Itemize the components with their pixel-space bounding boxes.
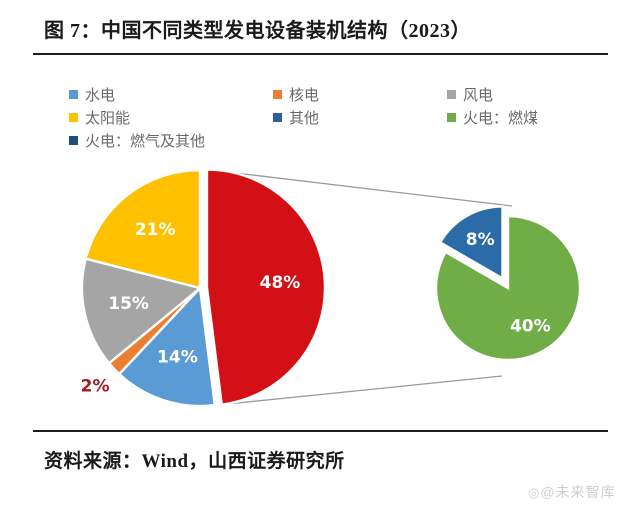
watermark-logo-icon: ◎ — [528, 485, 540, 500]
chart-plot-area: 水电 核电 风电 太阳能 其他 — [33, 56, 608, 428]
pie-slice-label: 14% — [157, 348, 198, 368]
watermark: ◎@未来智库 — [528, 482, 616, 502]
pie-slice-label: 40% — [510, 317, 551, 337]
figure-title: 图 7：中国不同类型发电设备装机结构（2023） — [44, 14, 604, 43]
watermark-text: @未来智库 — [540, 484, 615, 500]
pie-slice-label: 8% — [466, 230, 495, 250]
pie-slice-label: 2% — [81, 377, 110, 397]
secondary-pie — [436, 206, 580, 360]
pie-slice-label: 48% — [260, 273, 301, 293]
title-divider-rule — [33, 53, 608, 55]
figure-source: 资料来源：Wind，山西证券研究所 — [44, 446, 345, 473]
pie-slice-label: 21% — [135, 220, 176, 240]
figure-container: 图 7：中国不同类型发电设备装机结构（2023） 水电 核电 风电 — [0, 0, 640, 514]
pie-chart-svg: 48%14%2%15%21%40%8% — [33, 56, 608, 428]
source-divider-rule — [33, 430, 608, 432]
pie-slice-label: 15% — [108, 294, 149, 314]
